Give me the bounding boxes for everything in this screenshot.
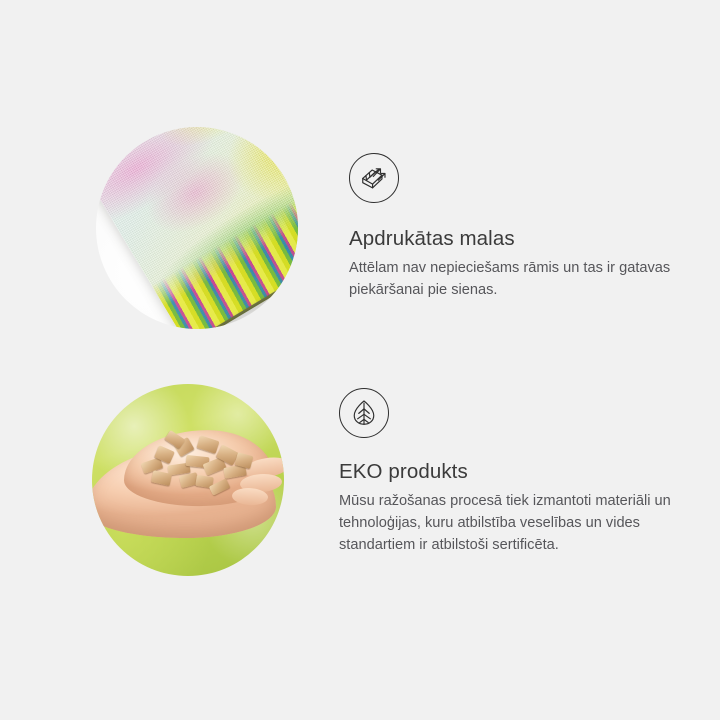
feature-content-eko-product: EKO produkts Mūsu ražošanas procesā tiek… [339, 378, 679, 556]
feature-image-eko-product [92, 384, 284, 576]
feature-description: Mūsu ražošanas procesā tiek izmantoti ma… [339, 490, 679, 557]
photo-circle-canvas [96, 127, 298, 329]
product-features-page: Apdrukātas malas Attēlam nav nepieciešam… [0, 0, 720, 720]
feature-eko-product: EKO produkts Mūsu ražošanas procesā tiek… [0, 378, 720, 576]
feature-content-printed-edges: Apdrukātas malas Attēlam nav nepieciešam… [349, 118, 689, 301]
hands-illustration [92, 424, 284, 542]
feature-printed-edges: Apdrukātas malas Attēlam nav nepieciešam… [0, 118, 720, 329]
feature-title: Apdrukātas malas [349, 227, 689, 252]
leaf-icon [339, 388, 389, 438]
feature-description: Attēlam nav nepieciešams rāmis un tas ir… [349, 257, 689, 301]
canvas-wrap-arrows-icon [349, 153, 399, 203]
wood-chips-pile [140, 430, 256, 496]
feature-image-printed-edges [96, 127, 298, 329]
canvas-corner-illustration [96, 127, 298, 329]
feature-title: EKO produkts [339, 460, 679, 485]
photo-circle-wood-chips [92, 384, 284, 576]
